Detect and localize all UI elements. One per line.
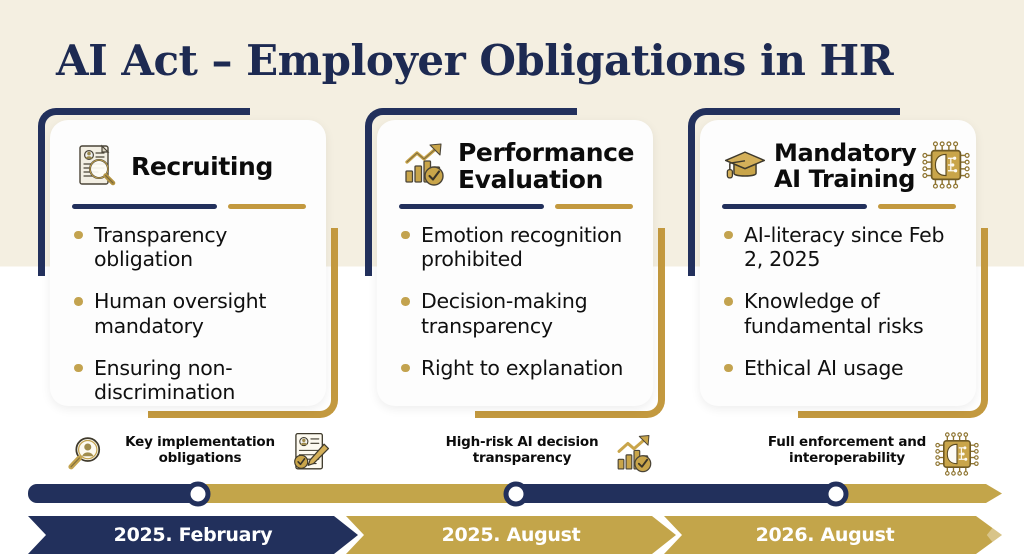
infographic-canvas: AI Act – Employer Obligations in HR bbox=[0, 0, 1024, 558]
divider-gold bbox=[878, 204, 956, 209]
card-title: Recruiting bbox=[131, 154, 273, 181]
card-divider bbox=[399, 204, 633, 209]
card-performance-evaluation: Performance Evaluation Emotion recogniti… bbox=[365, 108, 665, 418]
list-item: Right to explanation bbox=[399, 356, 633, 381]
ai-chip-brain-icon bbox=[935, 432, 979, 480]
timeline-period-label: 2026. August bbox=[756, 524, 895, 546]
certificate-pen-icon bbox=[288, 430, 332, 480]
timeline-segment-gold bbox=[196, 484, 526, 503]
list-item: Transparency obligation bbox=[72, 223, 306, 273]
timeline-marker[interactable] bbox=[824, 481, 849, 506]
card-body: Mandatory AI Training bbox=[700, 120, 976, 406]
timeline-bar bbox=[28, 484, 1002, 503]
card-bullet-list: Transparency obligation Human oversight … bbox=[72, 223, 306, 406]
divider-gold bbox=[228, 204, 306, 209]
timeline-period-label: 2025. February bbox=[114, 524, 273, 546]
resume-magnifier-icon bbox=[72, 140, 122, 194]
magnifier-person-icon bbox=[64, 432, 108, 480]
card-body: Performance Evaluation Emotion recogniti… bbox=[377, 120, 653, 406]
timeline-period-chip[interactable]: 2026. August bbox=[664, 516, 1002, 554]
page-title: AI Act – Employer Obligations in HR bbox=[56, 36, 893, 85]
timeline: Key implementation obligations High-risk… bbox=[0, 424, 1024, 558]
list-item: AI-literacy since Feb 2, 2025 bbox=[722, 223, 956, 273]
folded-corner-decoration bbox=[962, 516, 1002, 554]
timeline-marker[interactable] bbox=[504, 481, 529, 506]
timeline-segment-navy bbox=[28, 484, 200, 503]
timeline-period-chip[interactable]: 2025. August bbox=[346, 516, 676, 554]
list-item: Emotion recognition prohibited bbox=[399, 223, 633, 273]
timeline-caption: Full enforcement and interoperability bbox=[757, 434, 937, 466]
card-bullet-list: Emotion recognition prohibited Decision-… bbox=[399, 223, 633, 381]
growth-chart-check-icon bbox=[399, 140, 449, 194]
divider-navy bbox=[399, 204, 544, 209]
timeline-caption: Key implementation obligations bbox=[110, 434, 290, 466]
timeline-marker[interactable] bbox=[186, 481, 211, 506]
list-item: Ethical AI usage bbox=[722, 356, 956, 381]
divider-gold bbox=[555, 204, 633, 209]
card-header: Performance Evaluation bbox=[399, 136, 633, 198]
card-body: Recruiting Transparency obligation Human… bbox=[50, 120, 326, 406]
ai-chip-brain-icon bbox=[922, 141, 970, 193]
list-item: Ensuring non-discrimination bbox=[72, 356, 306, 406]
timeline-segment-gold bbox=[832, 484, 1002, 503]
list-item: Decision-making transparency bbox=[399, 289, 633, 339]
card-title: Mandatory AI Training bbox=[774, 141, 916, 192]
timeline-caption: High-risk AI decision transparency bbox=[432, 434, 612, 466]
card-bullet-list: AI-literacy since Feb 2, 2025 Knowledge … bbox=[722, 223, 956, 381]
graduation-cap-icon bbox=[722, 142, 768, 192]
timeline-label-bar: 2025. February 2025. August 2026. August bbox=[28, 516, 1002, 554]
timeline-period-label: 2025. August bbox=[442, 524, 581, 546]
card-mandatory-ai-training: Mandatory AI Training bbox=[688, 108, 988, 418]
card-title: Performance Evaluation bbox=[458, 140, 634, 194]
card-recruiting: Recruiting Transparency obligation Human… bbox=[38, 108, 338, 418]
timeline-period-chip[interactable]: 2025. February bbox=[28, 516, 358, 554]
list-item: Human oversight mandatory bbox=[72, 289, 306, 339]
list-item: Knowledge of fundamental risks bbox=[722, 289, 956, 339]
card-header: Mandatory AI Training bbox=[722, 136, 956, 198]
divider-navy bbox=[722, 204, 867, 209]
timeline-segment-navy bbox=[514, 484, 844, 503]
card-divider bbox=[72, 204, 306, 209]
card-header: Recruiting bbox=[72, 136, 306, 198]
card-divider bbox=[722, 204, 956, 209]
growth-chart-check-icon bbox=[612, 432, 656, 480]
divider-navy bbox=[72, 204, 217, 209]
